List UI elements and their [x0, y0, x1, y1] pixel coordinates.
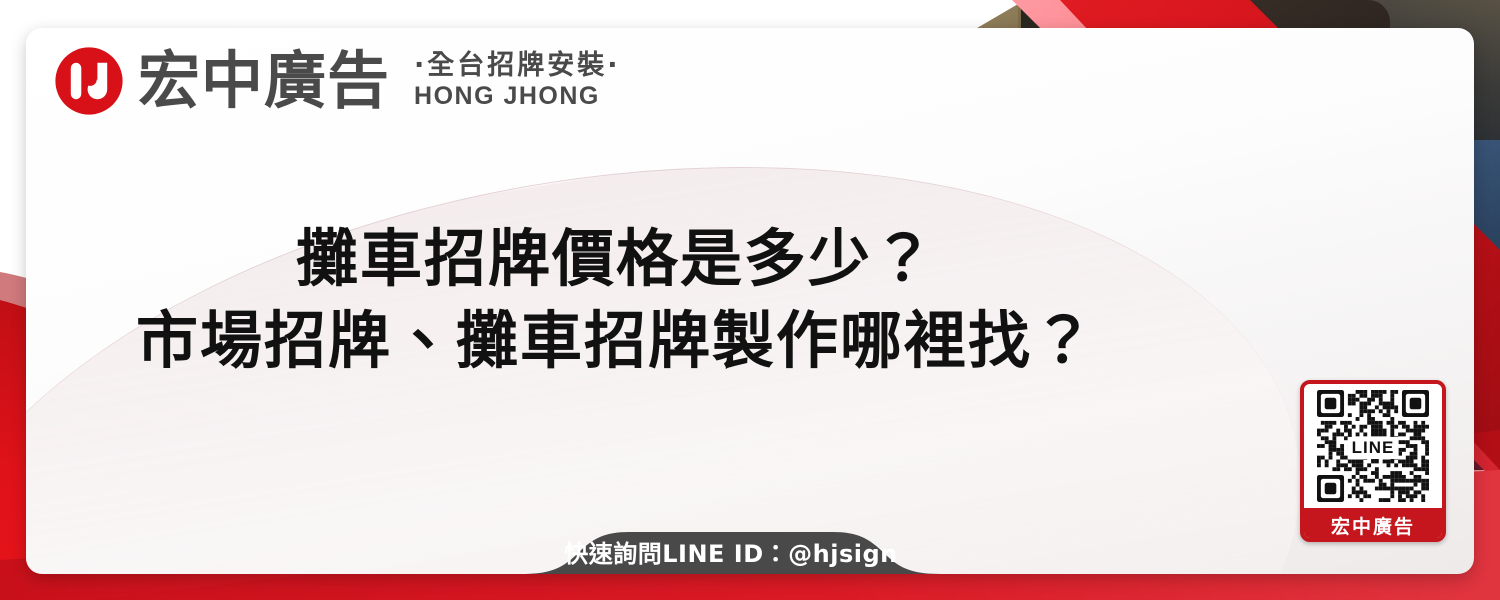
line-qr-badge[interactable]: LINE 宏中廣告 — [1300, 380, 1446, 542]
line-id-text: 快速詢問LINE ID：@hjsign — [521, 530, 941, 574]
hongjhong-logo-icon — [54, 46, 124, 116]
line-id-ribbon[interactable]: 快速詢問LINE ID：@hjsign — [521, 530, 941, 574]
qr-center-label: LINE — [1348, 437, 1399, 459]
headline-line-1: 攤車招牌價格是多少？ — [26, 218, 1206, 300]
headline-block: 攤車招牌價格是多少？ 市場招牌、攤車招牌製作哪裡找？ — [26, 218, 1206, 382]
brand-tagline-group: ·全台招牌安裝· HONG JHONG — [414, 51, 621, 110]
brand-tagline-cn: ·全台招牌安裝· — [414, 51, 621, 81]
brand-header: 宏中廣告 ·全台招牌安裝· HONG JHONG — [54, 46, 621, 116]
brand-tagline-en: HONG JHONG — [414, 83, 621, 111]
promo-banner: 宏中廣告 ·全台招牌安裝· HONG JHONG 攤車招牌價格是多少？ 市場招牌… — [0, 0, 1500, 600]
headline-line-2: 市場招牌、攤車招牌製作哪裡找？ — [26, 300, 1206, 382]
brand-name: 宏中廣告 — [138, 50, 390, 112]
qr-code-area: LINE — [1304, 384, 1442, 508]
content-card: 宏中廣告 ·全台招牌安裝· HONG JHONG 攤車招牌價格是多少？ 市場招牌… — [26, 28, 1474, 574]
qr-footer-label: 宏中廣告 — [1304, 508, 1442, 542]
